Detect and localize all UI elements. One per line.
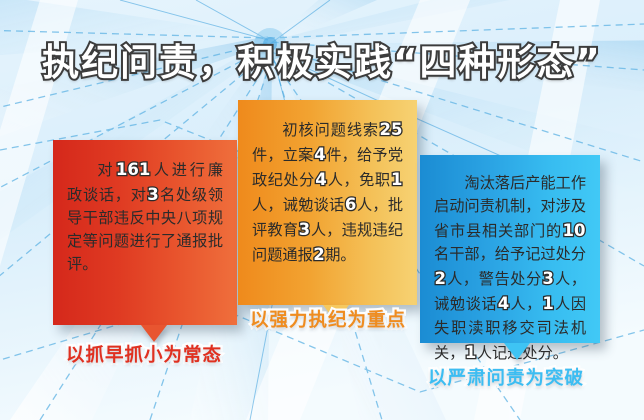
card-red-pointer-icon <box>141 325 167 342</box>
statistic-label: 人，免职 <box>327 171 390 189</box>
statistic-number: 4 <box>314 145 326 164</box>
caption-blue: 以严肃问责为突破 <box>428 364 584 390</box>
statistic-number: 1 <box>464 343 476 362</box>
card-orange: 初核问题线索25件，立案4件，给予党政纪处分4人，免职1人，诫勉谈话6人，批评教… <box>238 100 417 305</box>
card-orange-text: 初核问题线索25件，立案4件，给予党政纪处分4人，免职1人，诫勉谈话6人，批评教… <box>252 117 403 268</box>
statistic-number: 3 <box>542 269 554 288</box>
statistic-number: 6 <box>344 195 356 214</box>
statistic-number: 2 <box>434 269 446 288</box>
statistic-label: 人，诫勉谈话 <box>252 196 344 214</box>
statistic-number: 4 <box>497 294 509 313</box>
statistic-label: 人，警告处分 <box>446 270 541 288</box>
page-title: 执纪问责，积极实践“四种形态” <box>0 32 644 86</box>
statistic-number: 4 <box>315 170 327 189</box>
statistic-number: 1 <box>391 170 403 189</box>
caption-red: 以抓早抓小为常态 <box>66 341 222 367</box>
statistic-number: 2 <box>313 245 325 264</box>
caption-orange: 以强力执纪为重点 <box>250 306 406 332</box>
statistic-number: 1 <box>542 294 554 313</box>
poster-canvas: 执纪问责，积极实践“四种形态” 对161人进行廉政谈话，对3名处级领导干部违反中… <box>0 0 644 420</box>
statistic-number: 3 <box>147 185 159 204</box>
statistic-label: 对 <box>97 161 115 179</box>
statistic-number: 161 <box>115 160 150 179</box>
card-blue: 淘汰落后产能工作启动问责机制，对涉及省市县相关部门的10名干部，给予记过处分2人… <box>420 155 600 343</box>
card-red: 对161人进行廉政谈话，对3名处级领导干部违反中央八项规定等问题进行了通报批评。 <box>53 140 237 325</box>
statistic-number: 10 <box>562 221 586 240</box>
card-blue-text: 淘汰落后产能工作启动问责机制，对涉及省市县相关部门的10名干部，给予记过处分2人… <box>434 172 586 365</box>
statistic-label: 人， <box>510 295 542 313</box>
card-blue-pointer-icon <box>504 343 530 360</box>
statistic-label: 初核问题线索 <box>282 121 379 139</box>
statistic-label: 期。 <box>325 246 355 264</box>
statistic-number: 25 <box>379 120 403 139</box>
card-red-text: 对161人进行廉政谈话，对3名处级领导干部违反中央八项规定等问题进行了通报批评。 <box>67 157 223 276</box>
statistic-label: 名干部，给予记过处分 <box>434 245 586 263</box>
statistic-number: 3 <box>298 220 310 239</box>
statistic-label: 件，立案 <box>252 146 314 164</box>
